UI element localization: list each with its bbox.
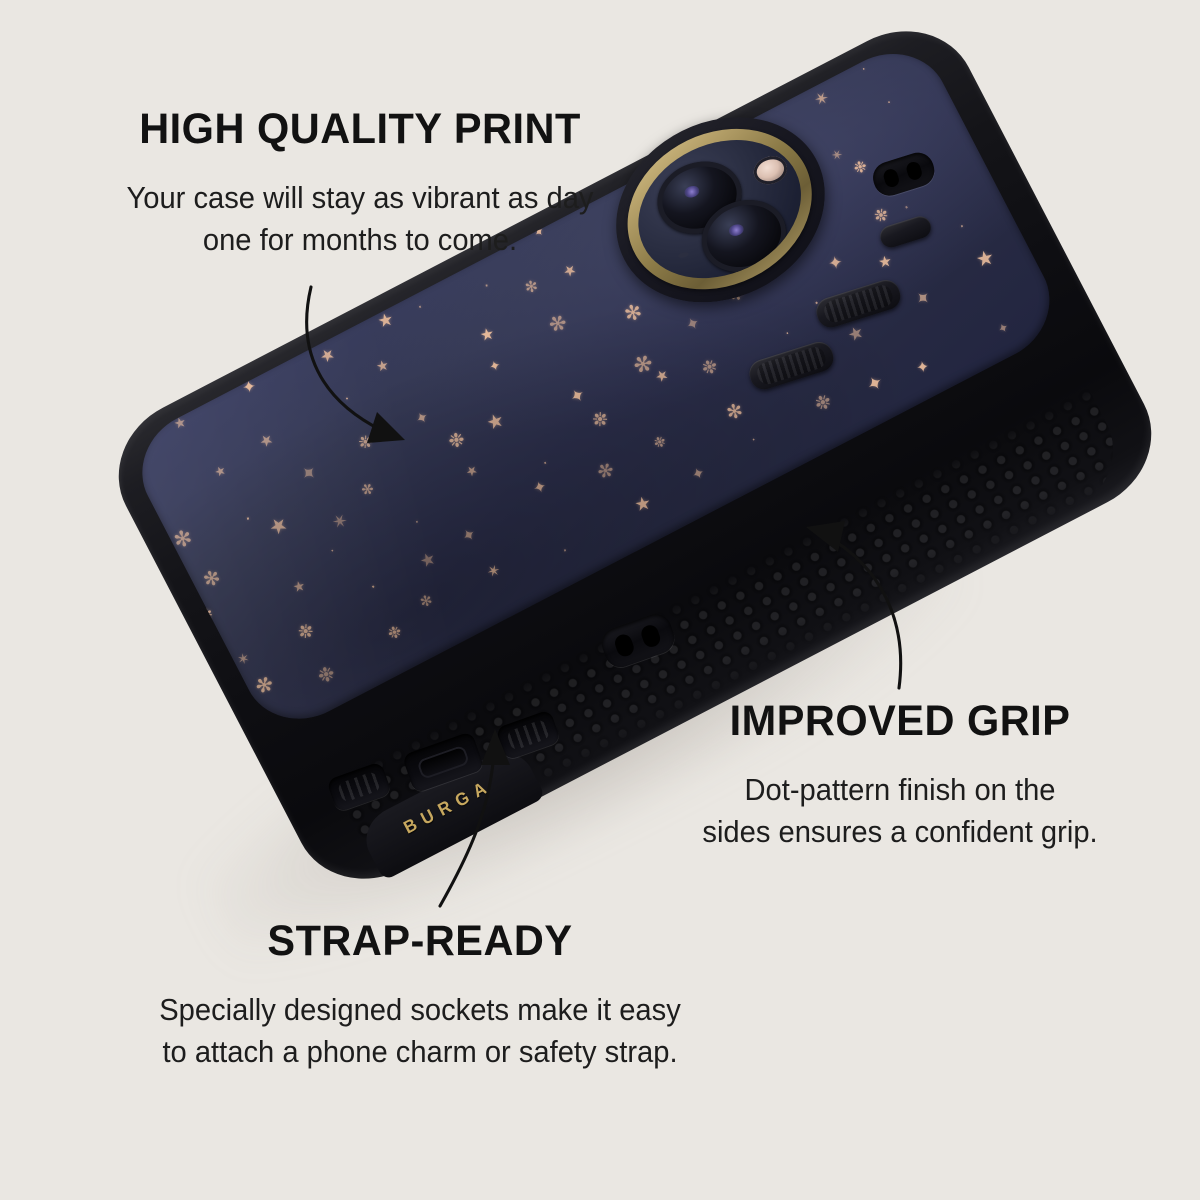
star-icon: ✦ — [827, 254, 844, 273]
star-icon: ✻ — [594, 459, 619, 484]
star-icon: ✦ — [683, 314, 703, 335]
star-icon: · — [365, 578, 382, 596]
feature-body: Dot-pattern finish on the sides ensures … — [656, 769, 1145, 853]
star-icon: ✻ — [725, 402, 745, 425]
feature-body-line: Your case will stay as vibrant as day — [78, 177, 642, 219]
star-icon: ✻ — [524, 279, 539, 296]
feature-body-line: to attach a phone charm or safety strap. — [91, 1031, 749, 1073]
star-icon: · — [560, 541, 570, 560]
star-icon: ✦ — [863, 373, 887, 398]
star-icon: ❉ — [588, 408, 613, 433]
star-icon: ✦ — [567, 385, 589, 408]
star-icon: ✦ — [459, 525, 479, 546]
feature-heading: STRAP-READY — [82, 920, 758, 963]
star-icon: ★ — [417, 550, 438, 572]
star-icon: · — [885, 95, 894, 109]
star-icon: ❉ — [652, 434, 669, 452]
star-icon: ✦ — [915, 359, 930, 376]
feature-strap-ready: STRAP-READY Specially designed sockets m… — [70, 920, 770, 1073]
star-icon: ✶ — [328, 510, 352, 534]
feature-high-quality-print: HIGH QUALITY PRINT Your case will stay a… — [60, 108, 660, 261]
star-icon: ✶ — [236, 652, 251, 669]
star-icon: ★ — [463, 462, 480, 479]
feature-body: Your case will stay as vibrant as day on… — [78, 177, 642, 261]
feature-body-line: sides ensures a confident grip. — [656, 811, 1145, 853]
star-icon: ✶ — [484, 562, 505, 582]
star-icon: ✦ — [690, 465, 708, 484]
star-icon: ★ — [292, 579, 307, 595]
star-icon: · — [340, 390, 353, 405]
star-icon: ❉ — [448, 430, 467, 451]
star-icon: · — [748, 433, 761, 447]
feature-improved-grip: IMPROVED GRIP Dot-pattern finish on the … — [640, 700, 1160, 853]
feature-body-line: one for months to come. — [78, 219, 642, 261]
star-icon: ✦ — [531, 479, 548, 498]
star-icon: ✦ — [413, 409, 432, 429]
star-icon: ❉ — [355, 431, 377, 453]
star-icon: ✦ — [912, 287, 935, 310]
star-icon: ✻ — [546, 312, 573, 339]
star-icon: ★ — [317, 345, 339, 367]
star-icon: ★ — [561, 262, 580, 282]
star-icon: · — [414, 297, 426, 315]
star-icon: ❉ — [294, 620, 318, 645]
star-icon: ★ — [478, 327, 495, 345]
infographic-canvas: ✻★✦★★··✦··✶··★★·★★✻★✻❉✻✶·✻·✦❉✦✦✻✻❉✻·❉★✻★… — [0, 0, 1200, 1200]
star-icon: ★ — [845, 323, 866, 345]
speaker-holes — [506, 719, 550, 751]
star-icon: ★ — [376, 310, 395, 330]
star-icon: ❉ — [812, 391, 836, 416]
star-icon: ❉ — [871, 204, 893, 226]
star-icon: ★ — [265, 513, 292, 540]
star-icon: · — [325, 544, 339, 558]
star-icon: ★ — [375, 357, 390, 373]
star-icon: ✻ — [172, 526, 195, 552]
star-icon: ✻ — [622, 302, 645, 327]
camera-flash-icon — [751, 153, 789, 188]
star-icon: ✻ — [200, 567, 223, 592]
star-icon: · — [243, 508, 253, 528]
star-icon: · — [859, 60, 868, 75]
star-icon: ✻ — [419, 593, 435, 610]
feature-body-line: Dot-pattern finish on the — [656, 769, 1145, 811]
star-icon: ★ — [484, 410, 506, 434]
star-icon: ★ — [212, 464, 227, 480]
star-icon: ★ — [633, 493, 653, 514]
star-icon: ✦ — [996, 320, 1012, 336]
microphone-icon — [678, 251, 690, 258]
star-icon: ★ — [653, 367, 672, 386]
star-icon: ✦ — [487, 358, 502, 374]
star-icon: · — [958, 215, 967, 234]
star-icon: ★ — [975, 248, 997, 271]
star-icon: ❉ — [852, 159, 869, 178]
feature-body: Specially designed sockets make it easy … — [91, 989, 749, 1073]
star-icon: ✻ — [252, 672, 279, 699]
star-icon: ★ — [257, 431, 277, 451]
star-icon: ❉ — [386, 624, 404, 644]
star-icon: · — [898, 197, 914, 217]
star-icon: · — [539, 454, 551, 471]
star-icon: ✦ — [298, 462, 323, 487]
star-icon: ★ — [878, 254, 894, 271]
star-icon: ❉ — [316, 665, 337, 689]
feature-heading: IMPROVED GRIP — [649, 700, 1151, 743]
star-icon: · — [781, 326, 793, 340]
star-icon: · — [412, 513, 422, 531]
star-icon: · — [481, 275, 491, 294]
feature-body-line: Specially designed sockets make it easy — [91, 989, 749, 1031]
feature-heading: HIGH QUALITY PRINT — [71, 108, 650, 151]
star-icon: ✶ — [811, 88, 833, 111]
speaker-holes — [337, 771, 381, 803]
star-icon: ✻ — [360, 481, 378, 500]
star-icon: ❉ — [699, 356, 721, 379]
usb-c-opening — [416, 745, 470, 781]
star-icon: ✶ — [828, 147, 845, 165]
